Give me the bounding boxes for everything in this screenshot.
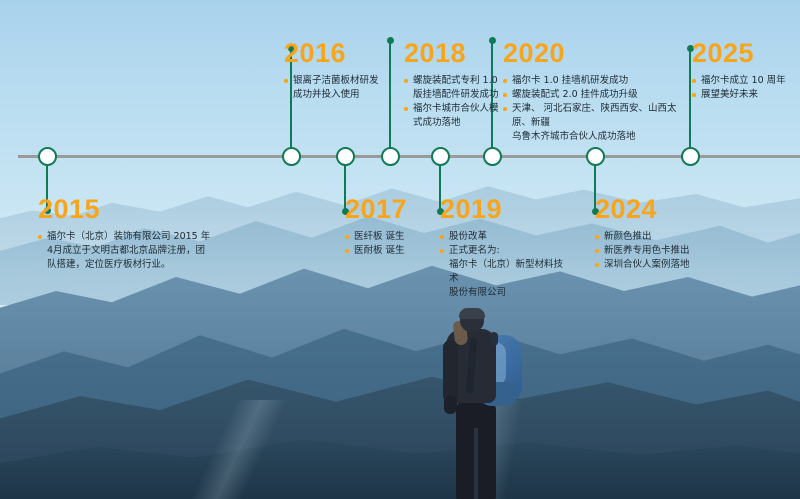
timeline-node-2024[interactable]	[586, 147, 605, 166]
timeline-bullets-2018: 螺旋装配式专利 1.0 版挂墙配件研发成功福尔卡城市合伙人模 式成功落地	[404, 74, 510, 130]
hiker-bandana	[459, 308, 485, 319]
timeline-bullet: 新医养专用色卡推出	[595, 244, 735, 258]
timeline-node-2019[interactable]	[431, 147, 450, 166]
timeline-infographic: 2015福尔卡（北京）装饰有限公司 2015 年 4月成立于文明古都北京品牌注册…	[0, 0, 800, 499]
timeline-entry-2025: 2025福尔卡成立 10 周年展望美好未来	[692, 40, 798, 102]
timeline-bullets-2019: 股份改革正式更名为: 福尔卡（北京）新型材料技术 股份有限公司	[440, 230, 564, 300]
timeline-year-label-2025: 2025	[692, 40, 798, 67]
timeline-bullet: 银离子洁菌板材研发 成功并投入使用	[284, 74, 392, 102]
timeline-entry-2018: 2018螺旋装配式专利 1.0 版挂墙配件研发成功福尔卡城市合伙人模 式成功落地	[404, 40, 510, 130]
hiker-hand	[444, 396, 457, 414]
timeline-bullet: 天津、 河北石家庄、陕西西安、山西太原、新疆 乌鲁木齐城市合伙人成功落地	[503, 102, 687, 144]
hiker-arm	[443, 340, 458, 402]
timeline-year-label-2015: 2015	[38, 196, 234, 223]
hiker-leg-split	[474, 428, 478, 499]
timeline-bullet: 展望美好未来	[692, 88, 798, 102]
timeline-bullets-2025: 福尔卡成立 10 周年展望美好未来	[692, 74, 798, 102]
timeline-bullets-2016: 银离子洁菌板材研发 成功并投入使用	[284, 74, 392, 102]
timeline-entry-2015: 2015福尔卡（北京）装饰有限公司 2015 年 4月成立于文明古都北京品牌注册…	[38, 196, 234, 272]
backpack-buckle	[490, 332, 498, 346]
timeline-entry-2017: 2017医纤板 诞生医耐板 诞生	[345, 196, 437, 258]
valley-road-glint	[0, 400, 800, 499]
timeline-bullet: 医纤板 诞生	[345, 230, 437, 244]
timeline-year-label-2016: 2016	[284, 40, 392, 67]
timeline-bullet: 福尔卡城市合伙人模 式成功落地	[404, 102, 510, 130]
timeline-year-label-2024: 2024	[595, 196, 735, 223]
timeline-bullets-2015: 福尔卡（北京）装饰有限公司 2015 年 4月成立于文明古都北京品牌注册，团 队…	[38, 230, 234, 272]
timeline-bullet: 福尔卡成立 10 周年	[692, 74, 798, 88]
timeline-bullet: 螺旋装配式专利 1.0 版挂墙配件研发成功	[404, 74, 510, 102]
timeline-bullet: 医耐板 诞生	[345, 244, 437, 258]
timeline-node-2018[interactable]	[381, 147, 400, 166]
timeline-bullet: 正式更名为: 福尔卡（北京）新型材料技术 股份有限公司	[440, 244, 564, 300]
timeline-bullet: 股份改革	[440, 230, 564, 244]
timeline-entry-2020: 2020福尔卡 1.0 挂墙机研发成功螺旋装配式 2.0 挂件成功升级天津、 河…	[503, 40, 687, 144]
timeline-stem-2025	[689, 48, 692, 156]
timeline-entry-2019: 2019股份改革正式更名为: 福尔卡（北京）新型材料技术 股份有限公司	[440, 196, 564, 300]
timeline-entry-2016: 2016银离子洁菌板材研发 成功并投入使用	[284, 40, 392, 102]
timeline-bullets-2017: 医纤板 诞生医耐板 诞生	[345, 230, 437, 258]
timeline-node-2025[interactable]	[681, 147, 700, 166]
timeline-year-label-2017: 2017	[345, 196, 437, 223]
timeline-bullets-2024: 新颜色推出新医养专用色卡推出深圳合伙人案例落地	[595, 230, 735, 272]
timeline-bullet: 深圳合伙人案例落地	[595, 258, 735, 272]
timeline-bullet: 福尔卡（北京）装饰有限公司 2015 年 4月成立于文明古都北京品牌注册，团 队…	[38, 230, 234, 272]
timeline-entry-2024: 2024新颜色推出新医养专用色卡推出深圳合伙人案例落地	[595, 196, 735, 272]
timeline-bullet: 福尔卡 1.0 挂墙机研发成功	[503, 74, 687, 88]
timeline-node-2015[interactable]	[38, 147, 57, 166]
timeline-node-2017[interactable]	[336, 147, 355, 166]
timeline-year-label-2019: 2019	[440, 196, 564, 223]
hiker-silhouette	[424, 308, 536, 499]
timeline-year-label-2020: 2020	[503, 40, 687, 67]
timeline-year-label-2018: 2018	[404, 40, 510, 67]
timeline-bullet: 新颜色推出	[595, 230, 735, 244]
timeline-bullet: 螺旋装配式 2.0 挂件成功升级	[503, 88, 687, 102]
timeline-node-2016[interactable]	[282, 147, 301, 166]
timeline-bullets-2020: 福尔卡 1.0 挂墙机研发成功螺旋装配式 2.0 挂件成功升级天津、 河北石家庄…	[503, 74, 687, 144]
timeline-node-2020[interactable]	[483, 147, 502, 166]
